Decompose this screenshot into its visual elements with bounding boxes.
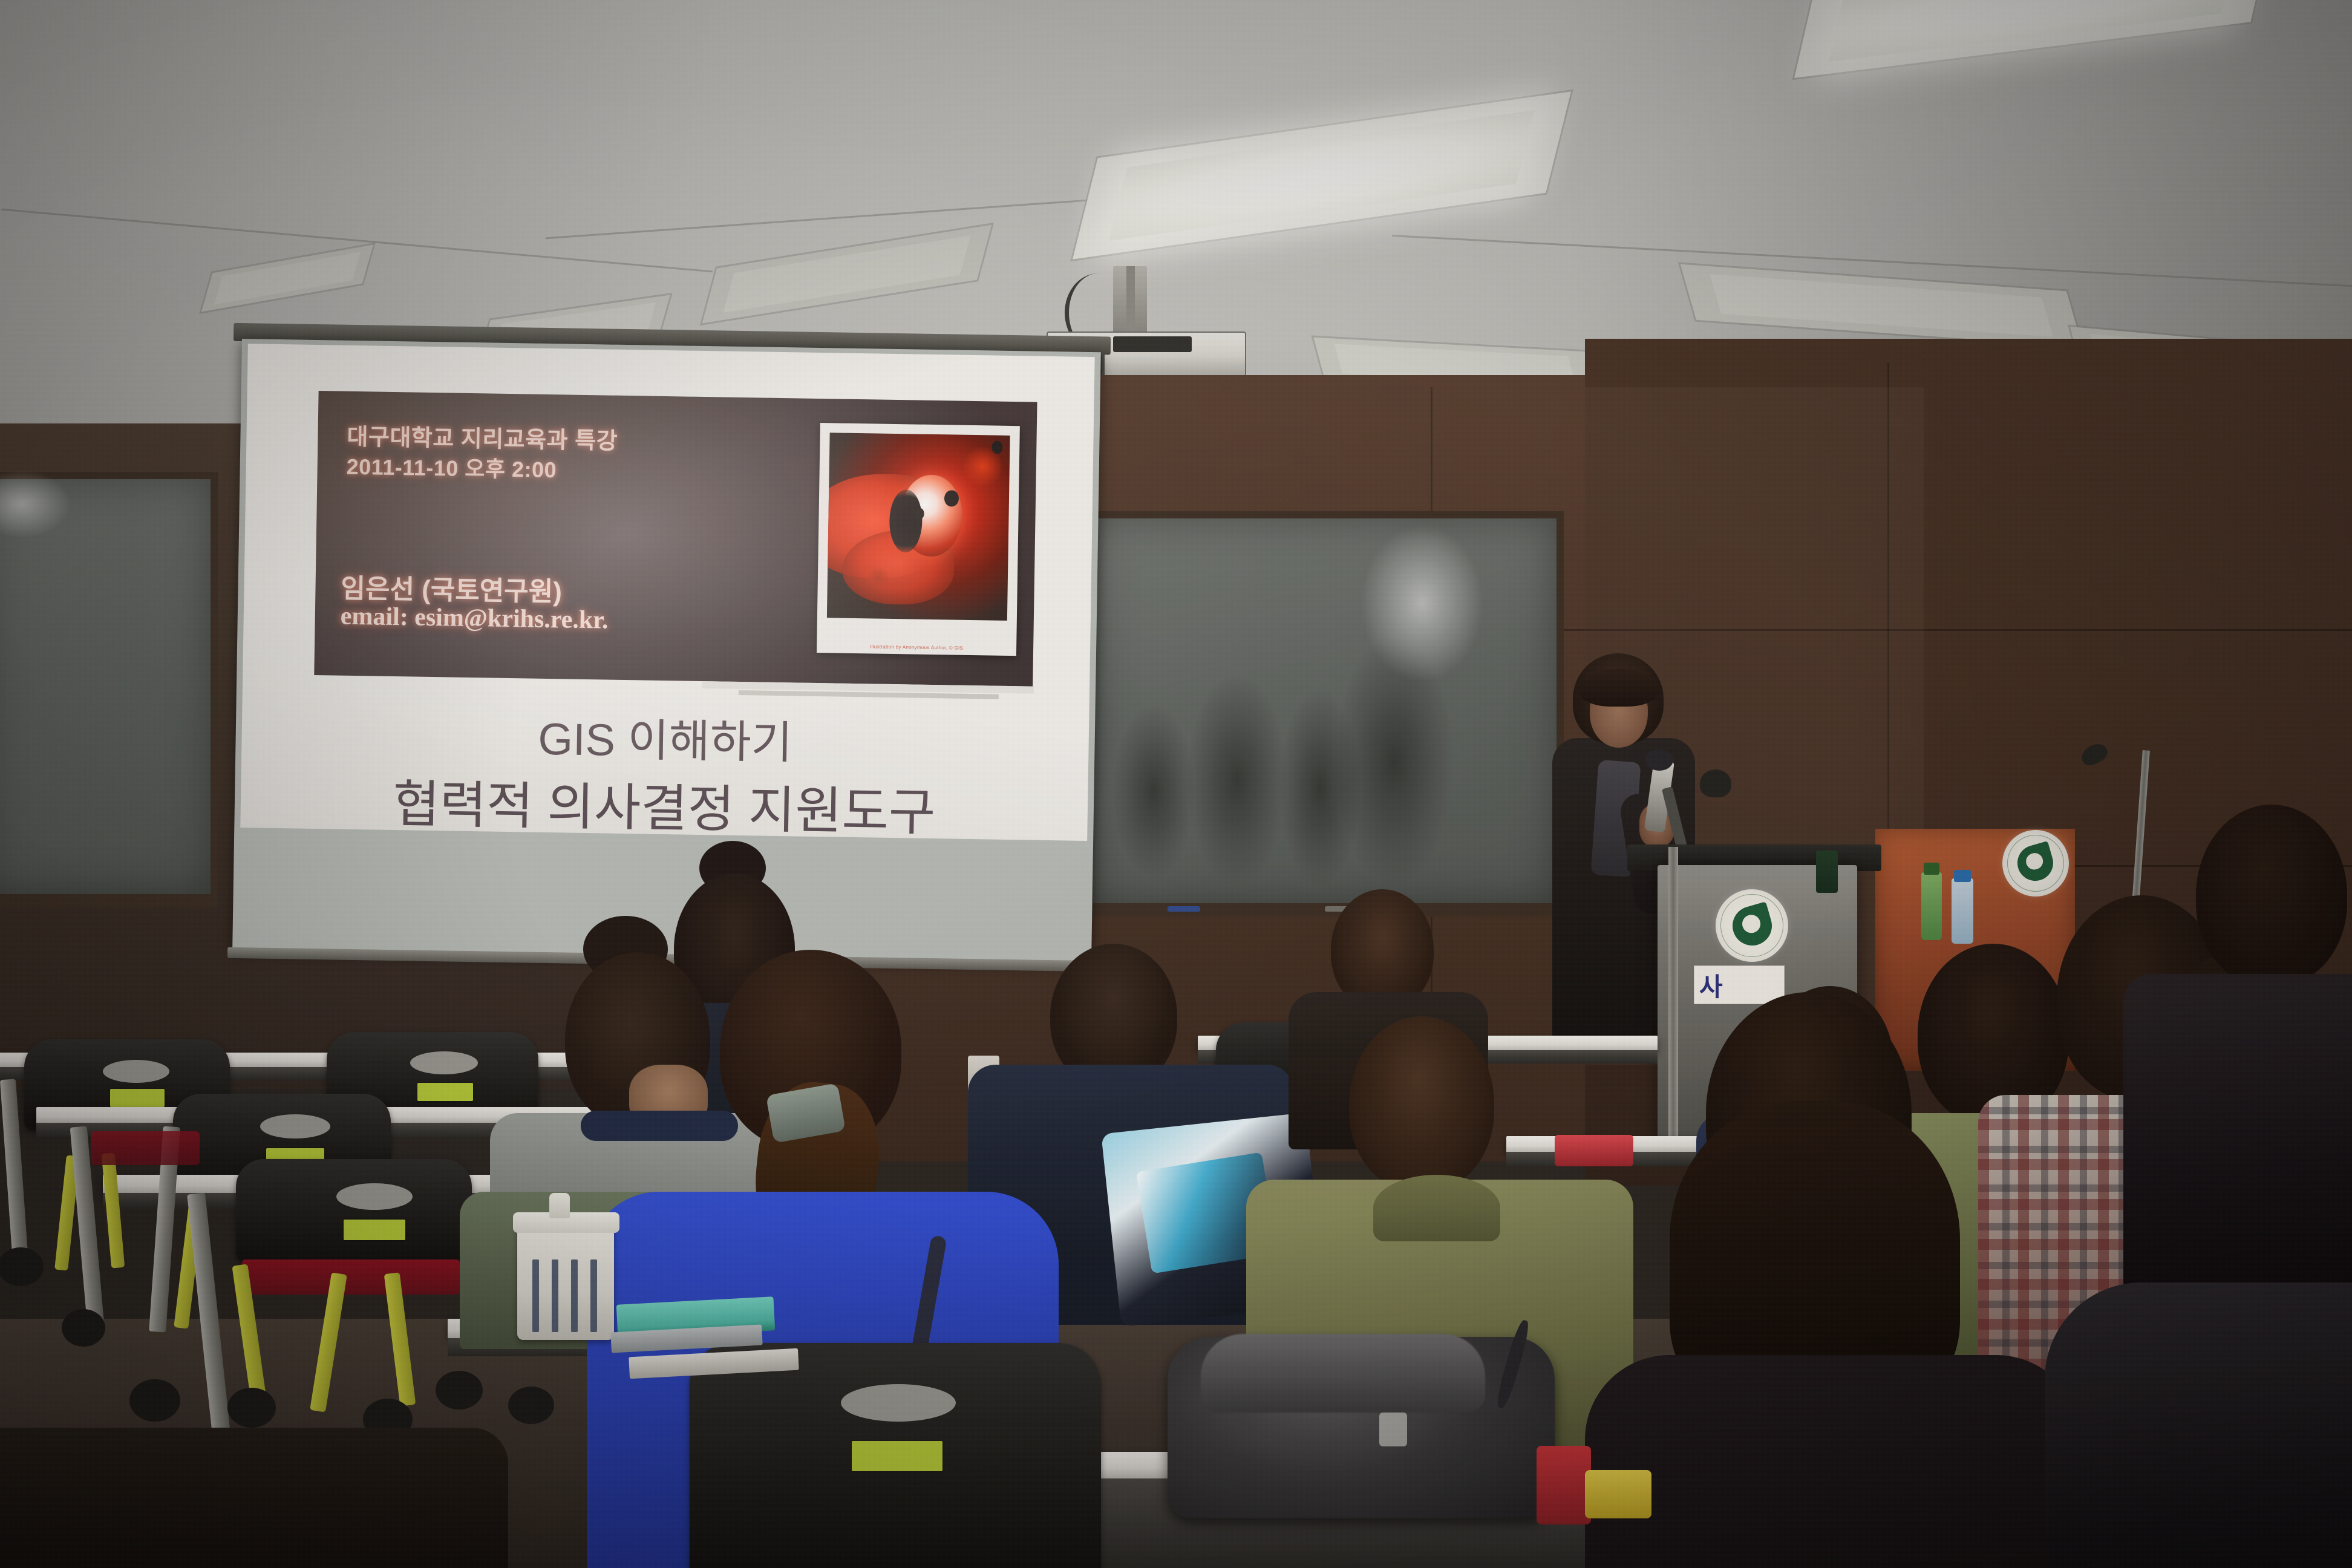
torso [2123, 974, 2352, 1289]
desk-caster [227, 1388, 276, 1428]
slide-header-band: 대구대학교 지리교육과 특강 2011-11-10 오후 2:00 임은선 (국… [314, 391, 1037, 687]
dark-bottle [1816, 851, 1838, 893]
slide-presenter-email: email: esim@krihs.re.kr. [340, 602, 608, 635]
chair-handle-slot [260, 1114, 330, 1138]
presentation-slide: 대구대학교 지리교육과 특강 2011-11-10 오후 2:00 임은선 (국… [240, 344, 1094, 841]
slide-photo-red-globe [827, 433, 1010, 621]
university-emblem [2002, 830, 2069, 897]
chair-handle-slot [103, 1060, 169, 1083]
foreground-shadow [0, 1428, 508, 1568]
jacket-hood [1373, 1175, 1500, 1241]
chair-asset-tag [110, 1089, 165, 1107]
red-pencil-case[interactable] [1555, 1135, 1633, 1166]
water-bottle [1921, 872, 1942, 940]
red-item[interactable] [1537, 1446, 1591, 1524]
tumbler-stripe [532, 1259, 539, 1332]
lecture-hall-photo: 대구대학교 지리교육과 특강 2011-11-10 오후 2:00 임은선 (국… [0, 0, 2352, 1568]
chair-handle-slot [841, 1384, 956, 1422]
white-tumbler[interactable] [517, 1222, 614, 1340]
podium-sign: 사 [1694, 965, 1785, 1004]
collar [581, 1111, 738, 1141]
whiteboard-marker [1168, 906, 1200, 912]
chair-asset-tag [852, 1441, 942, 1471]
slide-photo-caption: Illustration by Anonymous Author, © GIS [817, 643, 1016, 652]
chair[interactable] [236, 1159, 472, 1262]
microphone-stand [1668, 847, 1678, 1161]
water-bottle [1952, 878, 1973, 944]
gooseneck-mic-head [1700, 769, 1731, 797]
head [1349, 1016, 1494, 1192]
slide-event-line-1: 대구대학교 지리교육과 특강 [347, 418, 618, 456]
projector-top-panel [1113, 336, 1192, 352]
bottle-cap [1954, 870, 1971, 882]
slide-photo-frame: Illustration by Anonymous Author, © GIS [817, 423, 1020, 656]
chair-handle-slot [336, 1183, 413, 1210]
desk-caster [0, 1247, 44, 1286]
torso [1585, 1355, 2081, 1568]
chair-seat[interactable] [91, 1131, 200, 1165]
slide-event-line-2: 2011-11-10 오후 2:00 [346, 449, 557, 484]
podium-university-emblem [1716, 889, 1788, 962]
head [2196, 805, 2347, 986]
whiteboard-left [0, 472, 218, 907]
chair-caster [508, 1387, 554, 1424]
tumbler-stripe [552, 1259, 558, 1332]
tumbler-spout[interactable] [549, 1193, 570, 1218]
yellow-item[interactable] [1585, 1470, 1651, 1518]
microphone-head [1645, 749, 1673, 771]
chair-caster [436, 1371, 483, 1410]
chair-seat[interactable] [242, 1259, 460, 1295]
chair-asset-tag [417, 1083, 473, 1101]
torso [2045, 1282, 2352, 1568]
bottle-cap [1924, 863, 1939, 875]
slide-presenter-name: 임은선 (국토연구원) [341, 567, 562, 609]
backpack-buckle [1379, 1413, 1407, 1446]
screen-surface: 대구대학교 지리교육과 특강 2011-11-10 오후 2:00 임은선 (국… [232, 339, 1101, 963]
presenter-hair-fringe [1579, 669, 1659, 707]
desk-caster [62, 1309, 105, 1347]
chair-asset-tag [344, 1220, 405, 1240]
chair-leg [102, 1152, 125, 1268]
backpack-flap [1201, 1334, 1485, 1413]
chair-handle-slot [410, 1051, 478, 1074]
whiteboard-right [1086, 511, 1564, 916]
desk-caster [129, 1379, 180, 1422]
tumbler-stripe [571, 1259, 578, 1332]
projection-screen: 대구대학교 지리교육과 특강 2011-11-10 오후 2:00 임은선 (국… [232, 339, 1101, 1011]
tumbler-stripe [590, 1259, 597, 1332]
slide-subtitle-ko: 협력적 의사결정 지원도구 [240, 761, 1088, 841]
